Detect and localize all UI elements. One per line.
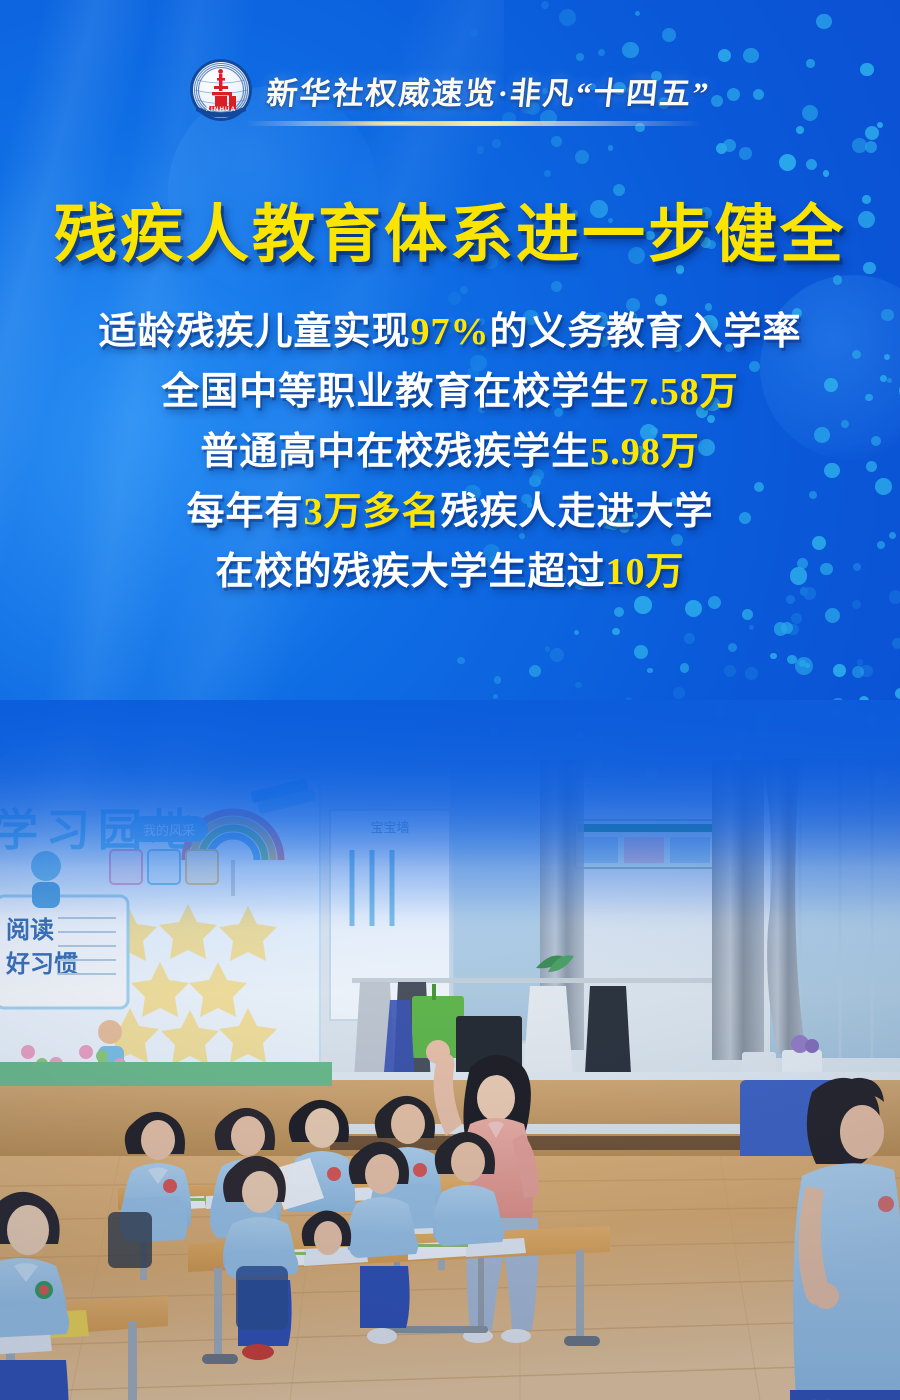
poster-root: 学习园地 我的风采: [0, 0, 900, 1400]
statistic-text-pre: 普通高中在校残疾学生: [200, 431, 590, 473]
classroom-photo-image: 学习园地 我的风采: [0, 700, 900, 1400]
statistics-list: 适龄残疾儿童实现97%的义务教育入学率全国中等职业教育在校学生7.58万普通高中…: [0, 302, 900, 602]
statistic-value: 7.58万: [629, 371, 739, 413]
page-title: 残疾人教育体系进一步健全: [0, 184, 900, 275]
statistic-value: 10万: [606, 551, 685, 593]
statistic-value: 5.98万: [590, 431, 700, 473]
statistic-line: 全国中等职业教育在校学生7.58万: [0, 362, 900, 422]
classroom-photo: 学习园地 我的风采: [0, 700, 900, 1400]
statistic-text-post: 残疾人走进大学: [441, 491, 714, 533]
statistic-text-pre: 每年有: [186, 491, 303, 533]
logo-text: XINHUA: [206, 106, 236, 113]
statistic-value: 3万多名: [303, 491, 440, 533]
xinhua-news-agency-logo-icon: XINHUA: [189, 58, 253, 122]
statistic-text-pre: 适龄残疾儿童实现: [98, 311, 410, 353]
header: XINHUA 新华社权威速览·非凡“十四五”: [0, 58, 900, 122]
statistic-text-pre: 全国中等职业教育在校学生: [161, 371, 629, 413]
statistic-line: 每年有3万多名残疾人走进大学: [0, 482, 900, 542]
statistic-line: 适龄残疾儿童实现97%的义务教育入学率: [0, 302, 900, 362]
header-title: 新华社权威速览·非凡“十四五”: [265, 68, 713, 113]
statistic-text-post: 的义务教育入学率: [490, 311, 802, 353]
statistic-line: 普通高中在校残疾学生5.98万: [0, 422, 900, 482]
header-divider: [246, 121, 702, 126]
statistic-line: 在校的残疾大学生超过10万: [0, 542, 900, 602]
statistic-value: 97%: [411, 311, 490, 353]
statistic-text-pre: 在校的残疾大学生超过: [215, 551, 605, 593]
